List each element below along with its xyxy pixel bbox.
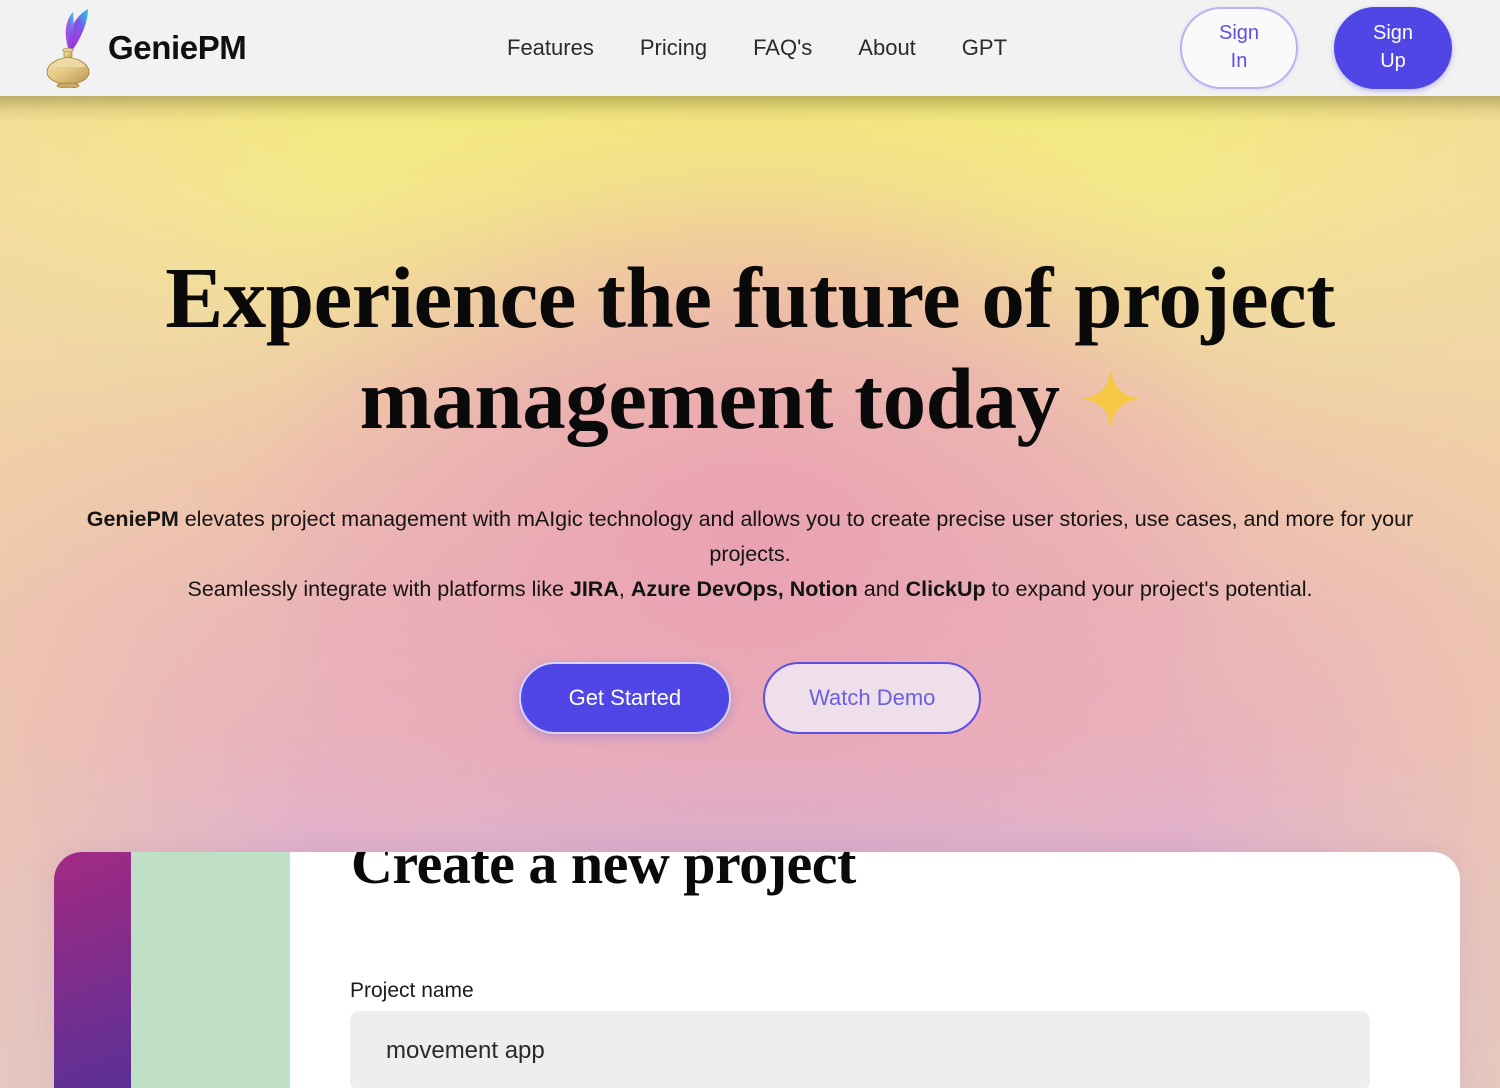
card-content: Create a new project Project name	[290, 852, 1460, 1088]
site-header: GeniePM Features Pricing FAQ's About GPT…	[0, 0, 1500, 96]
nav-item-pricing[interactable]: Pricing	[617, 35, 730, 61]
card-accent-stripe	[54, 852, 131, 1088]
cta-row: Get Started Watch Demo	[0, 662, 1500, 734]
hero-sub-clickup: ClickUp	[906, 577, 986, 601]
hero-section: Experience the future of project managem…	[0, 96, 1500, 734]
hero-sub-jira: JIRA	[570, 577, 619, 601]
project-name-input[interactable]	[350, 1011, 1370, 1088]
hero-sub-line2-end: to expand your project's potential.	[986, 577, 1313, 601]
sparkles-icon: ✦	[1081, 361, 1141, 441]
hero-subtitle: GeniePM elevates project management with…	[0, 502, 1500, 608]
hero-sub-line2-a: Seamlessly integrate with platforms like	[188, 577, 570, 601]
hero-title-line2: management today	[359, 350, 1059, 447]
nav-item-about[interactable]: About	[835, 35, 939, 61]
get-started-button[interactable]: Get Started	[519, 662, 732, 734]
sign-up-label-line1: Sign	[1373, 20, 1413, 48]
sign-up-label-line2: Up	[1373, 48, 1413, 76]
sign-in-label-line2: In	[1219, 48, 1259, 76]
brand-name: GeniePM	[108, 29, 246, 67]
product-preview-card: Create a new project Project name	[54, 852, 1460, 1088]
brand-logo[interactable]: GeniePM	[38, 0, 246, 96]
watch-demo-button[interactable]: Watch Demo	[763, 662, 981, 734]
nav-item-gpt[interactable]: GPT	[939, 35, 1030, 61]
hero-sub-line1: elevates project management with mAIgic …	[179, 507, 1413, 566]
nav-item-faqs[interactable]: FAQ's	[730, 35, 835, 61]
card-sidebar-panel	[131, 852, 290, 1088]
page-title: Experience the future of project managem…	[0, 248, 1500, 450]
hero-sub-brand: GeniePM	[87, 507, 179, 531]
nav-item-features[interactable]: Features	[484, 35, 617, 61]
hero-sub-azure-notion: Azure DevOps, Notion	[631, 577, 858, 601]
sign-in-button[interactable]: Sign In	[1180, 7, 1298, 89]
main-nav: Features Pricing FAQ's About GPT	[484, 0, 1030, 96]
hero-title-line1: Experience the future of project	[165, 249, 1334, 346]
card-title: Create a new project	[351, 852, 856, 897]
auth-buttons: Sign In Sign Up	[1180, 0, 1452, 96]
hero-sub-comma: ,	[619, 577, 631, 601]
genie-lamp-icon	[38, 8, 98, 88]
hero-sub-and: and	[858, 577, 906, 601]
sign-in-label-line1: Sign	[1219, 20, 1259, 48]
sign-up-button[interactable]: Sign Up	[1334, 7, 1452, 89]
project-name-label: Project name	[350, 979, 474, 1003]
